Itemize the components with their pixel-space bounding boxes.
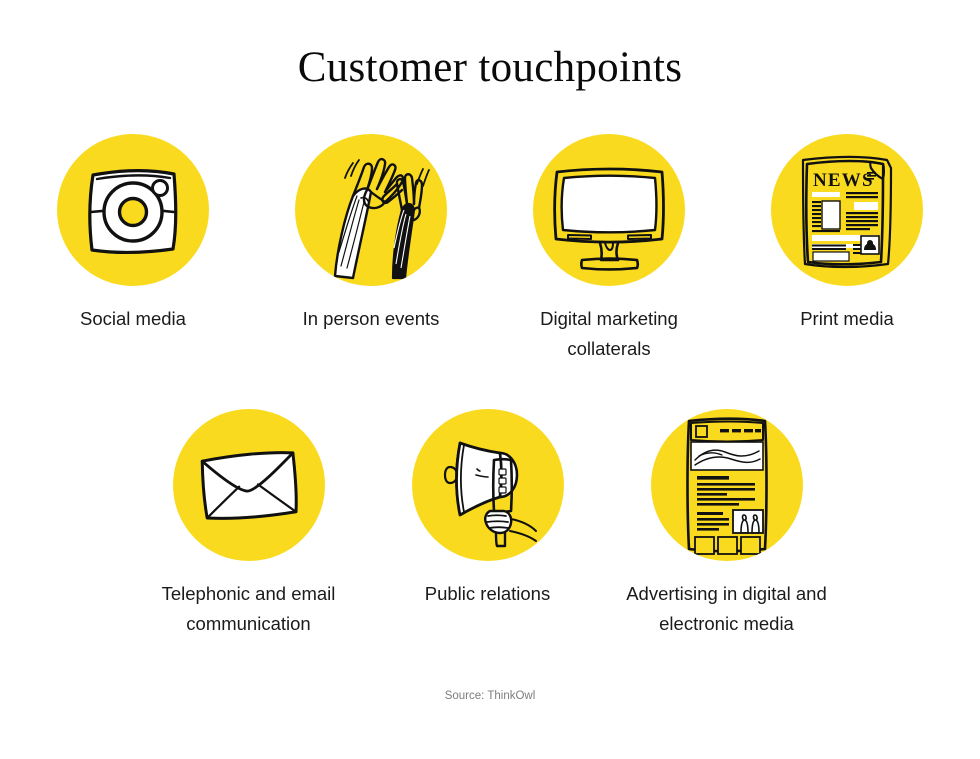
touchpoint-icon-bubble (533, 134, 685, 286)
touchpoint-row-1: Social media (14, 134, 966, 364)
touchpoint-icon-bubble (412, 409, 564, 561)
touchpoint-label: Social media (80, 304, 186, 334)
touchpoint-label: Public relations (425, 579, 550, 609)
touchpoint-row-2: Telephonic and email communication (129, 409, 851, 639)
envelope-icon (189, 425, 309, 545)
touchpoint-icon-bubble: NEWS (771, 134, 923, 286)
touchpoint-telephonic-email[interactable]: Telephonic and email communication (129, 409, 368, 639)
monitor-icon (546, 147, 672, 273)
touchpoint-print-media[interactable]: NEWS (728, 134, 966, 364)
touchpoint-icon-bubble (173, 409, 325, 561)
source-credit: Source: ThinkOwl (0, 690, 980, 702)
touchpoint-label: Advertising in digital and electronic me… (619, 579, 834, 639)
touchpoint-icon-bubble (57, 134, 209, 286)
page-title: Customer touchpoints (0, 44, 980, 91)
touchpoint-label: Digital marketing collaterals (502, 304, 717, 364)
touchpoint-advertising-digital[interactable]: Advertising in digital and electronic me… (607, 409, 846, 639)
touchpoint-label: Print media (800, 304, 894, 334)
touchpoint-digital-marketing[interactable]: Digital marketing collaterals (490, 134, 728, 364)
camera-icon (73, 150, 193, 270)
webpage-icon (675, 415, 779, 555)
newspaper-headline-text: NEWS (813, 170, 874, 191)
newspaper-icon: NEWS (791, 148, 903, 272)
megaphone-icon (424, 421, 552, 549)
touchpoint-label: In person events (303, 304, 440, 334)
touchpoint-label: Telephonic and email communication (141, 579, 356, 639)
touchpoint-social-media[interactable]: Social media (14, 134, 252, 364)
touchpoint-icon-bubble (651, 409, 803, 561)
touchpoint-public-relations[interactable]: Public relations (368, 409, 607, 639)
touchpoint-icon-bubble (295, 134, 447, 286)
touchpoint-in-person-events[interactable]: In person events (252, 134, 490, 364)
raised-hands-icon (301, 140, 441, 280)
infographic-canvas: Customer touchpoints Social media (0, 0, 980, 759)
